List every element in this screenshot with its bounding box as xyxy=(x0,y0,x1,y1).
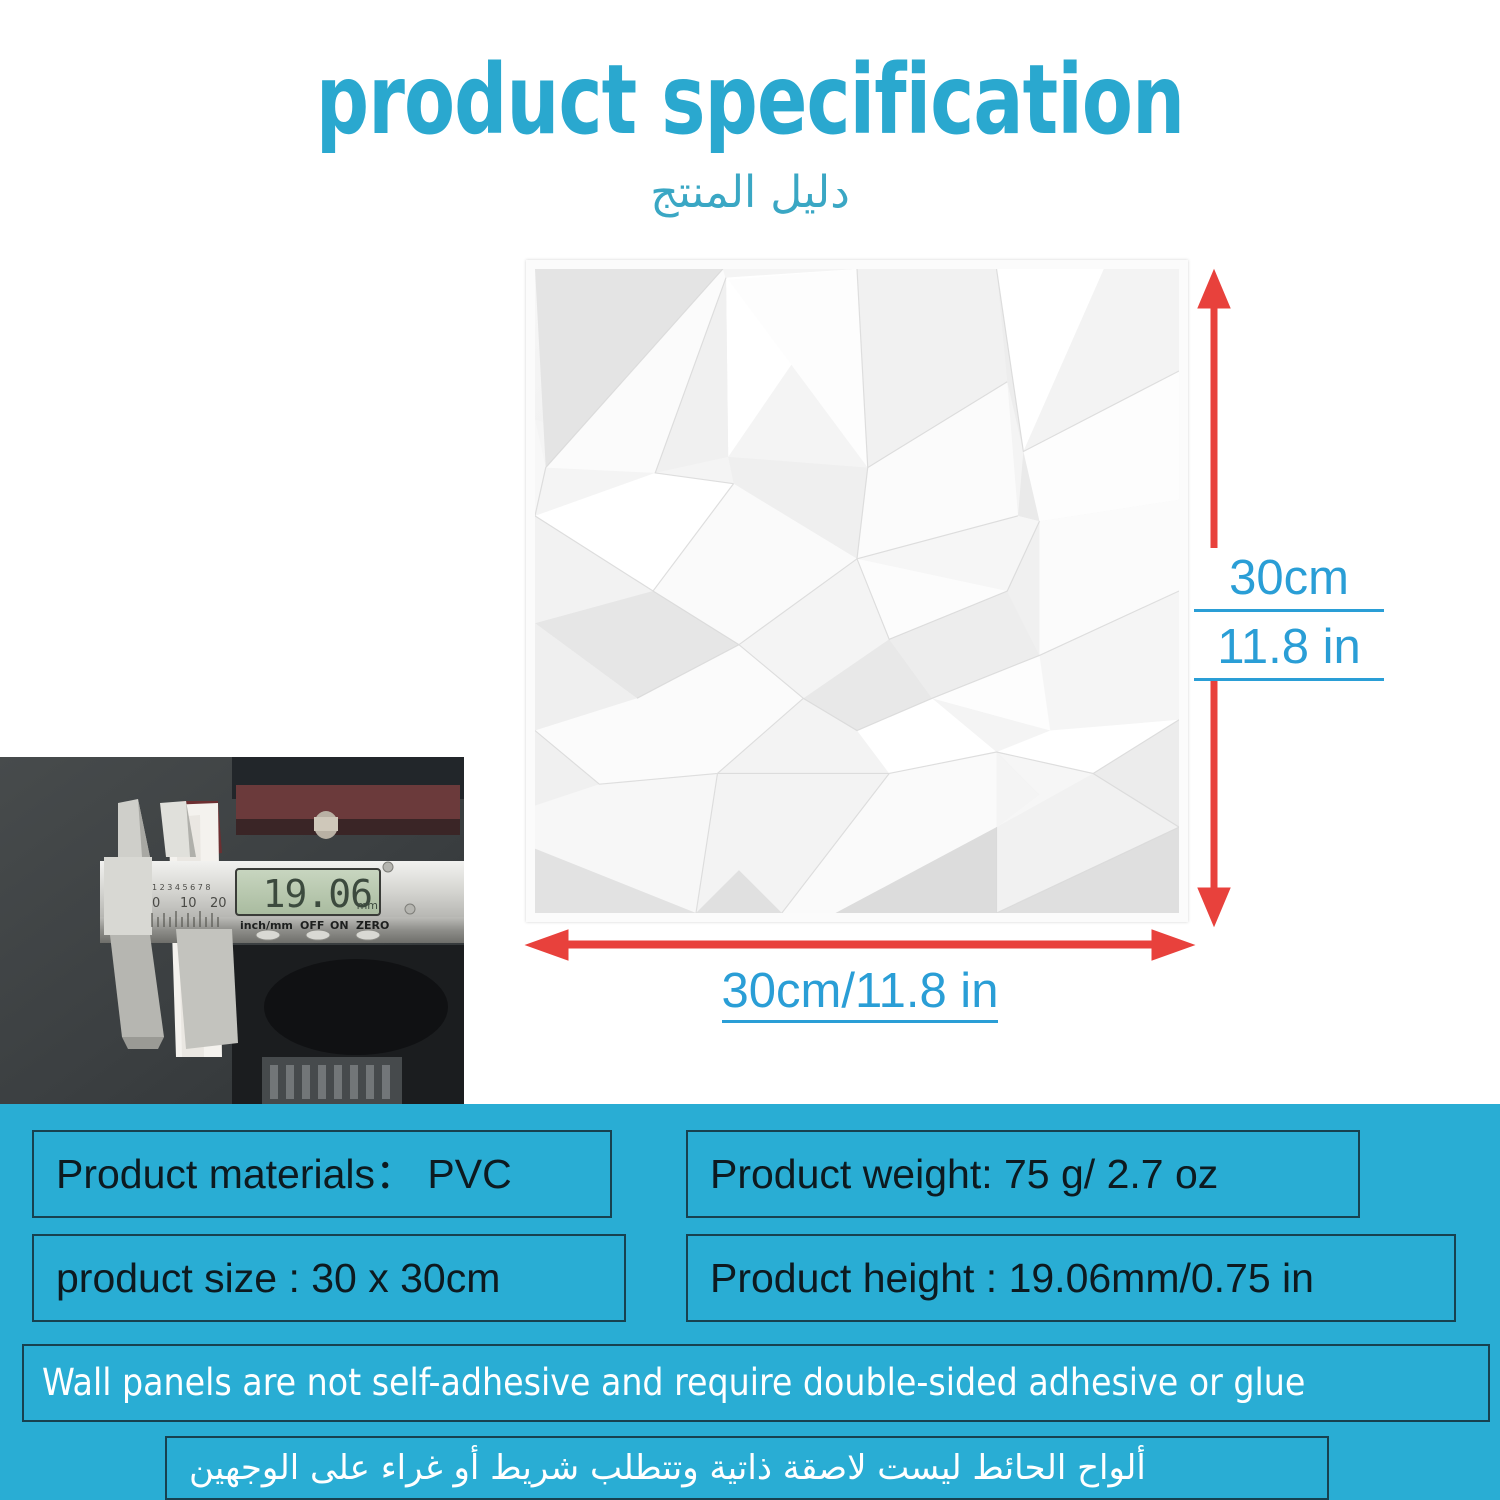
width-dimension-label: 30cm/11.8 in xyxy=(524,962,1196,1020)
height-in-value: 11.8 in xyxy=(1194,617,1384,681)
adhesive-note-english: Wall panels are not self-adhesive and re… xyxy=(22,1344,1490,1422)
spec-product-height-label: Product height : 19.06mm/0.75 in xyxy=(688,1255,1314,1301)
svg-text:1 2 3 4 5 6 7 8: 1 2 3 4 5 6 7 8 xyxy=(152,883,211,892)
page-title: product specification xyxy=(105,52,1395,148)
height-cm-value: 30cm xyxy=(1194,548,1384,612)
spec-product-size: product size : 30 x 30cm xyxy=(32,1234,626,1322)
spec-product-weight-label: Product weight: 75 g/ 2.7 oz xyxy=(688,1151,1218,1197)
adhesive-note-arabic-text: ألواح الحائط ليست لاصقة ذاتية وتتطلب شري… xyxy=(167,1448,1168,1488)
caliper-measurement-photo: 1 2 3 4 5 6 7 8 0 10 20 19.06 mm inch/mm… xyxy=(0,757,464,1104)
specification-band: Product materials： PVC product size : 30… xyxy=(0,1104,1500,1500)
diamond-panel xyxy=(526,260,1188,922)
diamond-panel-facets xyxy=(535,269,1179,913)
product-panel-image xyxy=(526,260,1188,922)
svg-text:0: 0 xyxy=(152,896,160,911)
svg-text:ON: ON xyxy=(330,919,349,932)
page-subtitle-arabic: دليل المنتج xyxy=(0,165,1500,221)
spec-product-size-label: product size : 30 x 30cm xyxy=(34,1255,500,1301)
width-value: 30cm/11.8 in xyxy=(722,964,999,1023)
spec-product-materials: Product materials： PVC xyxy=(32,1130,612,1218)
svg-text:mm: mm xyxy=(357,899,378,912)
spec-product-weight: Product weight: 75 g/ 2.7 oz xyxy=(686,1130,1360,1218)
svg-text:10: 10 xyxy=(180,896,197,911)
adhesive-note-english-text: Wall panels are not self-adhesive and re… xyxy=(24,1362,1305,1404)
caliper-photo-graphic: 1 2 3 4 5 6 7 8 0 10 20 19.06 mm inch/mm… xyxy=(0,757,464,1104)
adhesive-note-arabic: ألواح الحائط ليست لاصقة ذاتية وتتطلب شري… xyxy=(165,1436,1329,1500)
spec-product-height: Product height : 19.06mm/0.75 in xyxy=(686,1234,1456,1322)
width-dimension-arrow xyxy=(524,928,1196,962)
product-specification-page: product specification دليل المنتج xyxy=(0,0,1500,1500)
height-dimension-label: 30cm 11.8 in xyxy=(1194,548,1384,681)
svg-text:20: 20 xyxy=(210,896,227,911)
spec-product-materials-label: Product materials： PVC xyxy=(34,1151,512,1197)
